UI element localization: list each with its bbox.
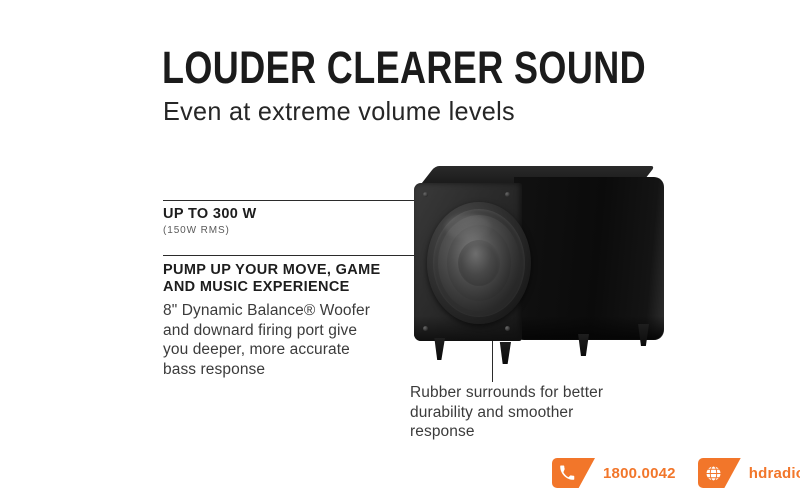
callout-experience-rule: [163, 255, 381, 256]
screw-icon: [505, 326, 510, 331]
poster-canvas: LOUDER CLEARER SOUND Even at extreme vol…: [0, 0, 800, 500]
globe-icon: [698, 458, 741, 488]
speaker-foot: [432, 338, 445, 360]
subwoofer-speaker-image: [404, 166, 664, 366]
callout-rubber-body: Rubber surrounds for better durability a…: [410, 383, 610, 442]
callout-power-heading: UP TO 300 W: [163, 206, 421, 223]
website-badge[interactable]: hdradio.vn: [698, 458, 800, 488]
phone-icon: [552, 458, 595, 488]
callout-experience-heading: PUMP UP YOUR MOVE, GAME AND MUSIC EXPERI…: [163, 262, 381, 296]
page-title: LOUDER CLEARER SOUND: [162, 45, 646, 91]
phone-number: 1800.0042: [603, 465, 676, 482]
phone-badge[interactable]: 1800.0042: [552, 458, 676, 488]
speaker-foot: [498, 342, 511, 364]
woofer-dust-cap: [458, 240, 500, 286]
callout-rubber: Rubber surrounds for better durability a…: [410, 383, 610, 442]
page-subtitle: Even at extreme volume levels: [163, 96, 515, 126]
screw-icon: [505, 192, 510, 197]
screw-icon: [423, 326, 428, 331]
website-url: hdradio.vn: [749, 465, 800, 482]
callout-experience: PUMP UP YOUR MOVE, GAME AND MUSIC EXPERI…: [163, 255, 381, 379]
callout-power: UP TO 300 W (150W RMS): [163, 200, 421, 237]
callout-power-sub: (150W RMS): [163, 225, 421, 237]
woofer-driver: [427, 202, 531, 324]
footer-contact-bar: 1800.0042 hdradio.vn: [552, 458, 800, 488]
callout-experience-body: 8" Dynamic Balance® Woofer and downard f…: [163, 301, 381, 379]
screw-icon: [423, 192, 428, 197]
woofer-highlight: [445, 214, 491, 240]
cabinet-side-panel: [514, 177, 664, 339]
